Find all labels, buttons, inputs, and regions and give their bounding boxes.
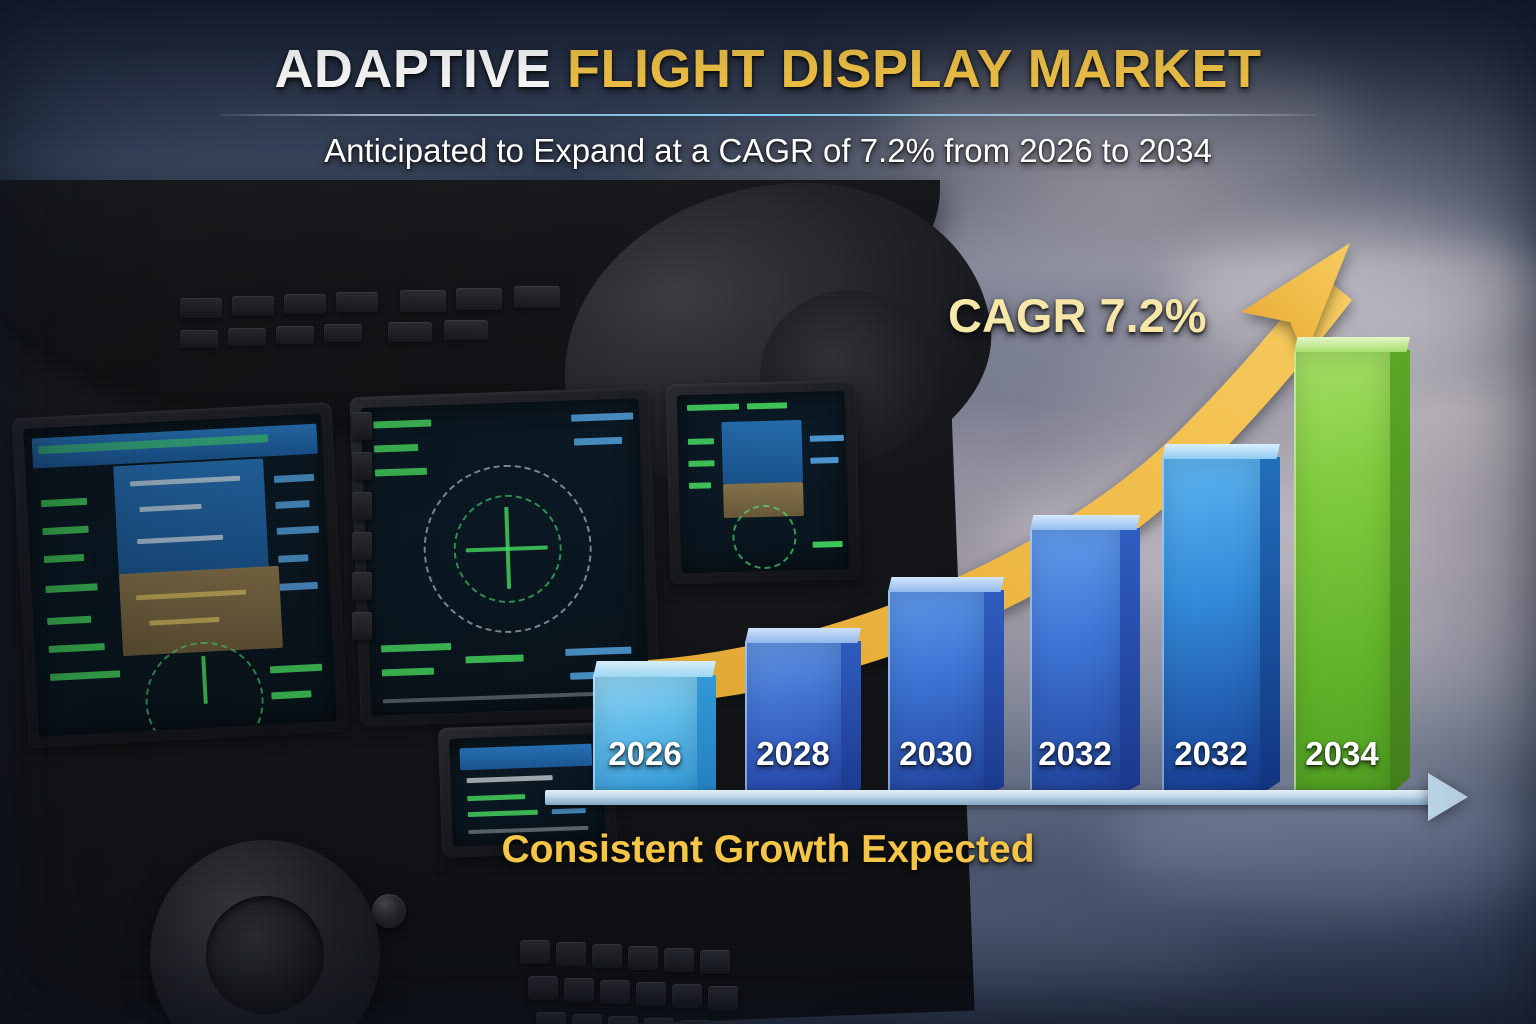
bar-2032-a[interactable]: 2032 [1030,528,1120,795]
bar-side [697,675,716,795]
axis-arrow-icon [1428,773,1468,821]
bar-side [841,641,861,795]
bar-top [888,577,1004,592]
bar-label: 2034 [1294,735,1390,773]
bar-label: 2032 [1162,735,1260,773]
bar-label: 2032 [1030,735,1120,773]
bar-top [1162,444,1280,459]
bar-label: 2026 [593,735,697,773]
bar-label: 2030 [888,735,984,773]
footer-caption: Consistent Growth Expected [0,828,1536,872]
cagr-callout: CAGR 7.2% [948,288,1207,343]
bar-2030[interactable]: 2030 [888,590,984,795]
bar-label: 2028 [745,735,841,773]
infographic-stage: ADAPTIVE FLIGHT DISPLAY MARKET Anticipat… [0,0,1536,1024]
bar-top [593,661,716,677]
bar-side [984,590,1004,795]
bar-2026[interactable]: 2026 [593,675,697,795]
bar-2034[interactable]: 2034 [1294,350,1390,795]
bar-side [1120,528,1140,795]
bar-top [745,628,861,643]
bar-2032-b[interactable]: 2032 [1162,457,1260,795]
bar-2028[interactable]: 2028 [745,641,841,795]
bar-side [1390,350,1410,795]
axis-baseline [545,790,1435,805]
bar-face [1294,350,1390,795]
bar-top [1294,337,1410,352]
bar-top [1030,515,1140,530]
bar-side [1260,457,1280,795]
